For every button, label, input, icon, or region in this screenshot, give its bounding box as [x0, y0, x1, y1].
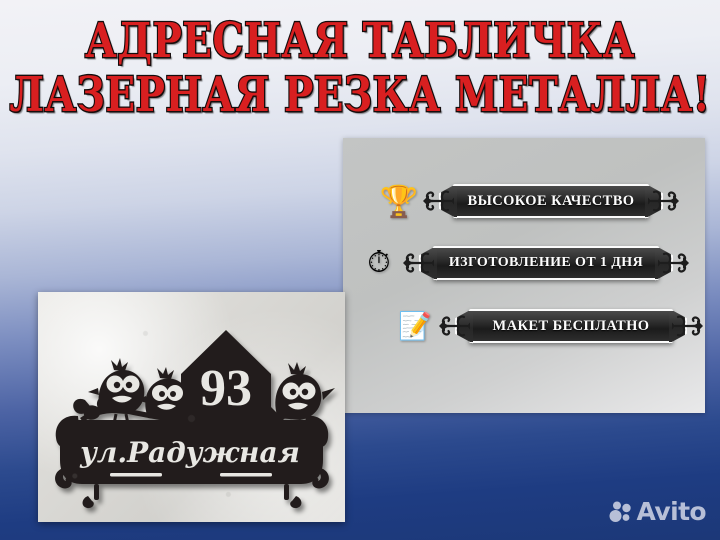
stopwatch-icon: ⏱ [359, 248, 399, 278]
title-line-1: АДРЕСНАЯ ТАБЛИЧКА [0, 18, 720, 67]
feature-plaque: ИЗГОТОВЛЕНИЕ ОТ 1 ДНЯ [407, 243, 685, 283]
avito-wordmark: Avito [637, 499, 706, 524]
plate-silhouette: 93 ул.Радужная [55, 330, 335, 508]
feature-plaque: ВЫСОКОЕ КАЧЕСТВО [427, 181, 675, 221]
ad-banner: АДРЕСНАЯ ТАБЛИЧКА ЛАЗЕРНАЯ РЕЗКА МЕТАЛЛА… [0, 0, 720, 540]
feature-plaque: МАКЕТ БЕСПЛАТНО [443, 306, 699, 346]
feature-row: 🏆 [379, 181, 675, 221]
memo-pencil-icon: 📝 [395, 313, 435, 340]
address-plate-artwork: 93 ул.Радужная [38, 292, 345, 522]
feature-row: ⏱ [359, 243, 685, 283]
avito-dots-icon [609, 501, 632, 523]
house-number: 93 [200, 360, 252, 417]
feature-label: ИЗГОТОВЛЕНИЕ ОТ 1 ДНЯ [449, 255, 643, 271]
address-plate-photo: 93 ул.Радужная [38, 292, 345, 522]
street-name: ул.Радужная [79, 436, 300, 469]
feature-label: ВЫСОКОЕ КАЧЕСТВО [468, 193, 635, 210]
bird-right [275, 362, 335, 430]
avito-watermark: Avito [609, 499, 706, 524]
title-line-2: ЛАЗЕРНАЯ РЕЗКА МЕТАЛЛА! [0, 72, 720, 121]
feature-row: 📝 [395, 306, 699, 346]
features-panel: 🏆 [343, 138, 705, 413]
title-block: АДРЕСНАЯ ТАБЛИЧКА ЛАЗЕРНАЯ РЕЗКА МЕТАЛЛА… [0, 18, 720, 112]
feature-label: МАКЕТ БЕСПЛАТНО [493, 318, 650, 335]
trophy-icon: 🏆 [379, 186, 419, 217]
